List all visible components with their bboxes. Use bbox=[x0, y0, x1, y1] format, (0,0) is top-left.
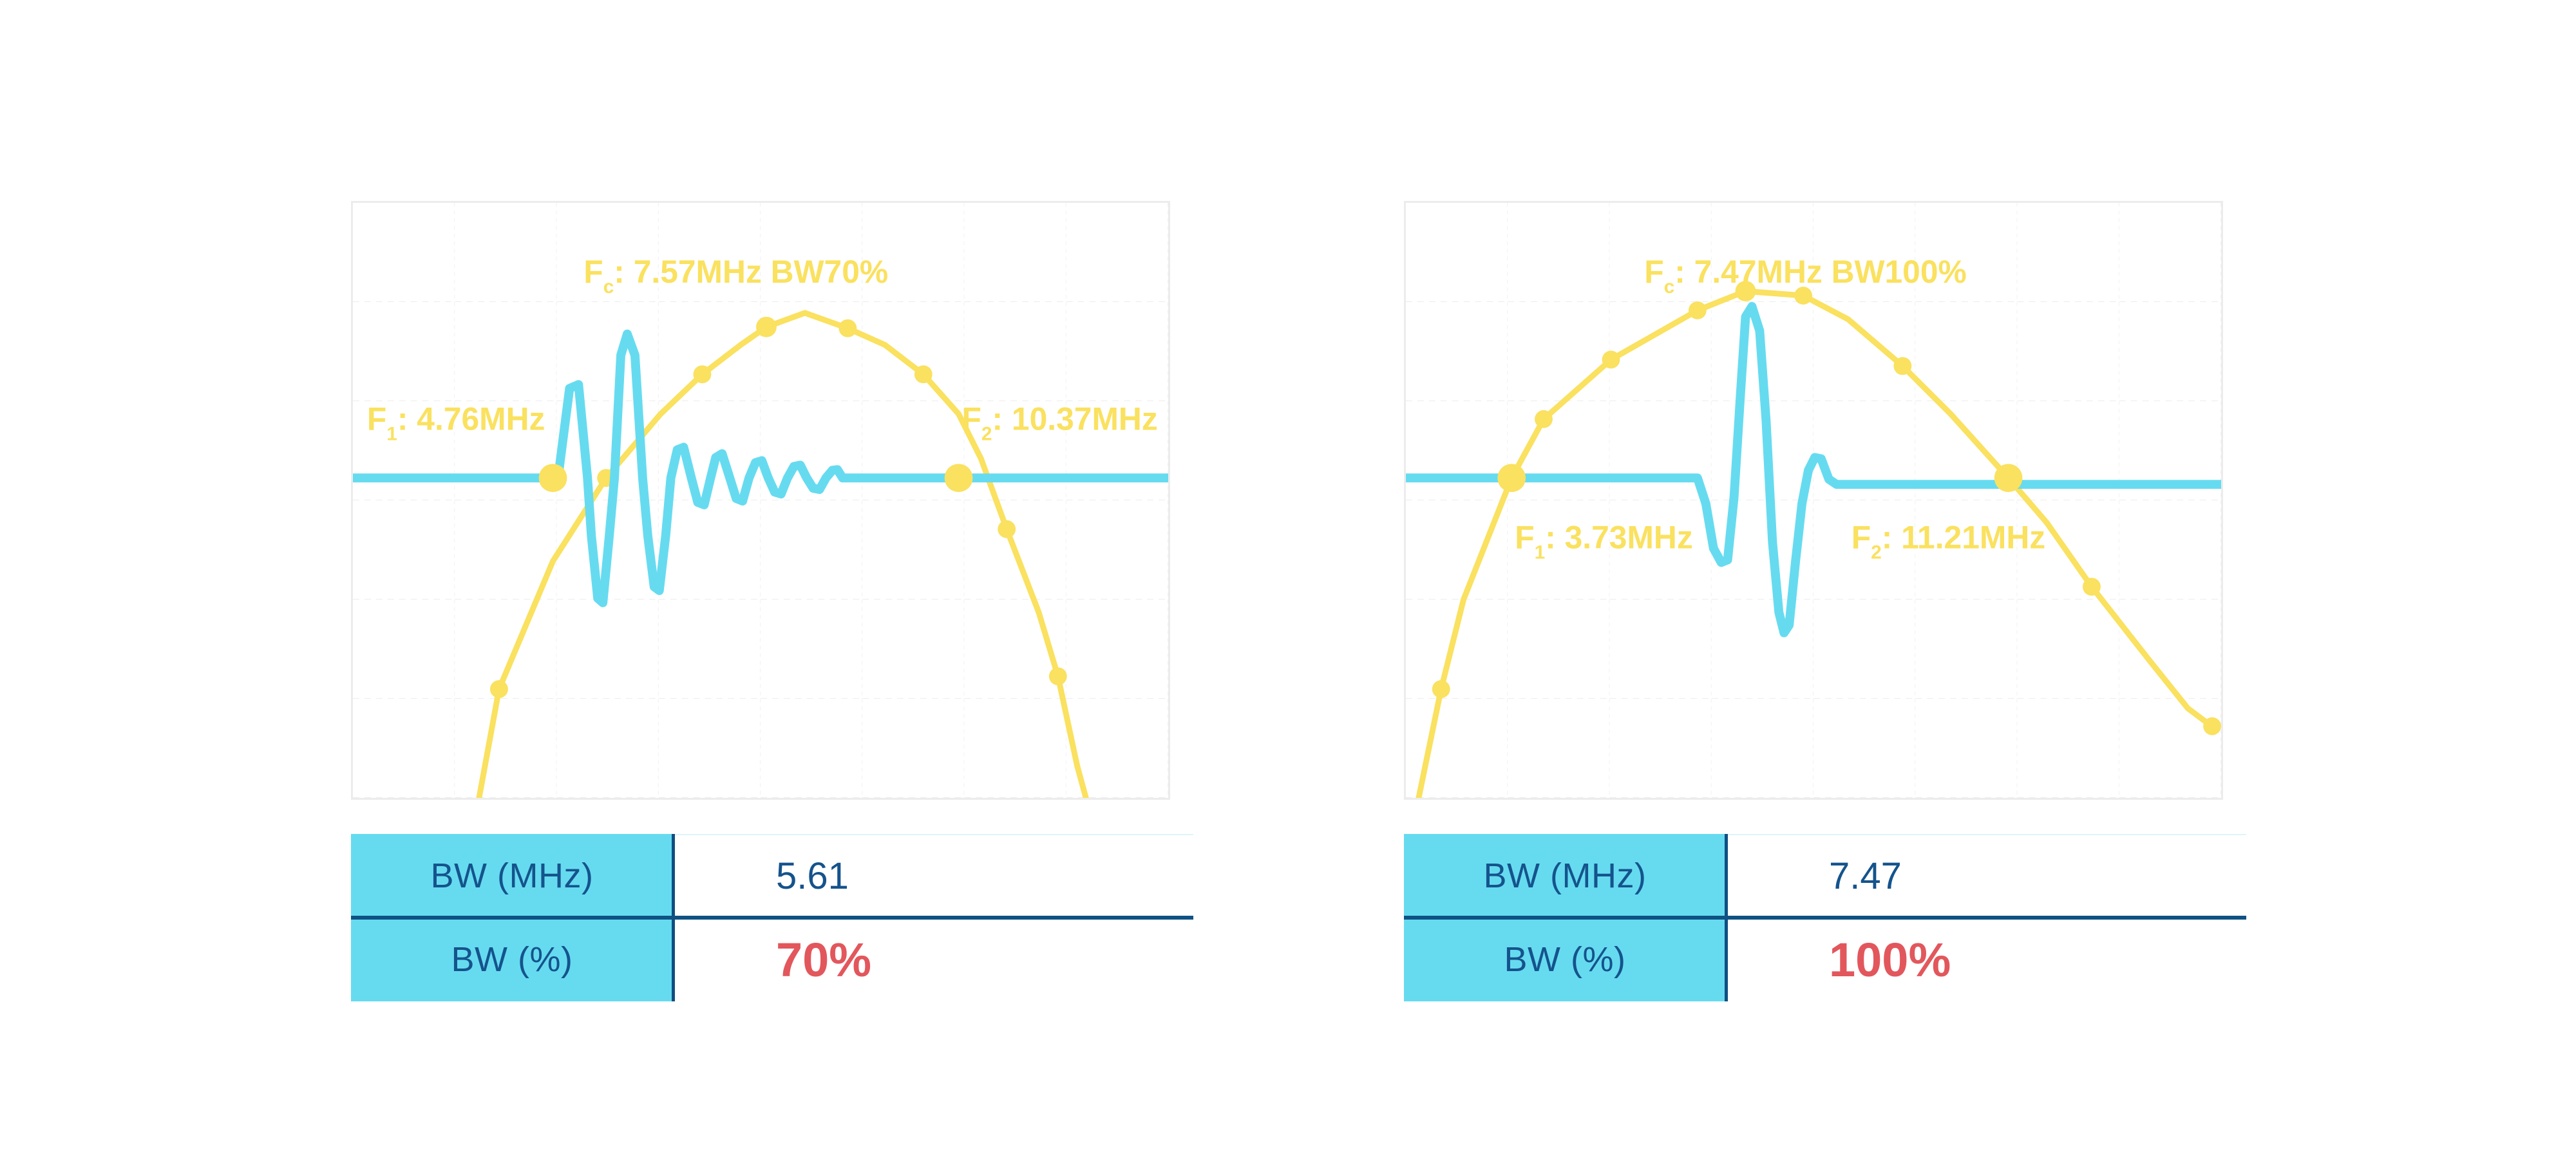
f2-sub-right: 2 bbox=[1871, 542, 1882, 563]
chart-frame-left: Fc: 7.57MHz BW70% F1: 4.76MHz F2: 10.37M… bbox=[351, 201, 1170, 800]
chart-right: Fc: 7.47MHz BW100% F1: 3.73MHz F2: 11.21… bbox=[1406, 203, 2221, 798]
f2-marker-left bbox=[945, 464, 973, 492]
table-row: BW (%) 100% bbox=[1404, 918, 2273, 1001]
f1-prefix-right: F bbox=[1515, 520, 1534, 556]
f2-text-right: : 11.21MHz bbox=[1882, 520, 2045, 556]
f1-sub-right: 1 bbox=[1535, 542, 1546, 563]
f1-marker-right bbox=[1497, 464, 1526, 492]
bw-pct-label-left: BW (%) bbox=[451, 940, 573, 979]
table-horizontal-divider-right bbox=[1404, 916, 2246, 920]
table-row: BW (MHz) 5.61 bbox=[351, 834, 1220, 918]
bw-mhz-value-right: 7.47 bbox=[1829, 855, 1902, 898]
bw-mhz-value-cell-right: 7.47 bbox=[1726, 834, 2273, 918]
bw-mhz-label-left: BW (MHz) bbox=[431, 856, 594, 896]
f1-marker-left bbox=[539, 464, 567, 492]
bw-table-left: BW (MHz) 5.61 BW (%) 70% bbox=[351, 834, 1220, 1001]
table-horizontal-divider-left bbox=[351, 916, 1193, 920]
bw-pct-label-cell-right: BW (%) bbox=[1404, 918, 1726, 1001]
panel-left: Fc: 7.57MHz BW70% F1: 4.76MHz F2: 10.37M… bbox=[322, 0, 1224, 1154]
bw-pct-label-cell-left: BW (%) bbox=[351, 918, 673, 1001]
fc-text-right: : 7.47MHz BW100% bbox=[1674, 254, 1967, 290]
bw-table-right: BW (MHz) 7.47 BW (%) 100% bbox=[1404, 834, 2273, 1001]
chart-frame-right: Fc: 7.47MHz BW100% F1: 3.73MHz F2: 11.21… bbox=[1404, 201, 2223, 800]
bw-mhz-value-left: 5.61 bbox=[776, 855, 849, 898]
bw-pct-value-left: 70% bbox=[776, 932, 871, 987]
f1-prefix-left: F bbox=[367, 401, 386, 437]
fc-sub-right: c bbox=[1664, 276, 1675, 298]
bw-mhz-label-right: BW (MHz) bbox=[1484, 856, 1647, 896]
bw-mhz-label-cell-right: BW (MHz) bbox=[1404, 834, 1726, 918]
bw-pct-label-right: BW (%) bbox=[1504, 940, 1626, 979]
chart-left: Fc: 7.57MHz BW70% F1: 4.76MHz F2: 10.37M… bbox=[353, 203, 1168, 798]
fc-text-left: : 7.57MHz BW70% bbox=[614, 254, 888, 290]
bw-pct-value-cell-left: 70% bbox=[673, 918, 1220, 1001]
bw-mhz-label-cell-left: BW (MHz) bbox=[351, 834, 673, 918]
f2-prefix-left: F bbox=[962, 401, 981, 437]
table-row: BW (MHz) 7.47 bbox=[1404, 834, 2273, 918]
fc-prefix-right: F bbox=[1644, 254, 1663, 290]
f2-marker-right bbox=[1994, 464, 2023, 492]
table-row: BW (%) 70% bbox=[351, 918, 1220, 1001]
bw-pct-value-right: 100% bbox=[1829, 932, 1951, 987]
f1-text-right: : 3.73MHz bbox=[1545, 520, 1693, 556]
f2-text-left: : 10.37MHz bbox=[992, 401, 1158, 437]
figure-root: Fc: 7.57MHz BW70% F1: 4.76MHz F2: 10.37M… bbox=[0, 0, 2576, 1154]
f1-text-left: : 4.76MHz bbox=[397, 401, 545, 437]
fc-sub-left: c bbox=[603, 276, 614, 298]
bw-pct-value-cell-right: 100% bbox=[1726, 918, 2273, 1001]
f2-sub-left: 2 bbox=[981, 424, 992, 445]
f1-sub-left: 1 bbox=[386, 424, 397, 445]
bw-mhz-value-cell-left: 5.61 bbox=[673, 834, 1220, 918]
fc-prefix-left: F bbox=[583, 254, 603, 290]
panel-right: Fc: 7.47MHz BW100% F1: 3.73MHz F2: 11.21… bbox=[1375, 0, 2277, 1154]
chart-grid-right bbox=[1406, 203, 2221, 798]
chart-grid-left bbox=[353, 203, 1168, 798]
f2-prefix-right: F bbox=[1851, 520, 1871, 556]
